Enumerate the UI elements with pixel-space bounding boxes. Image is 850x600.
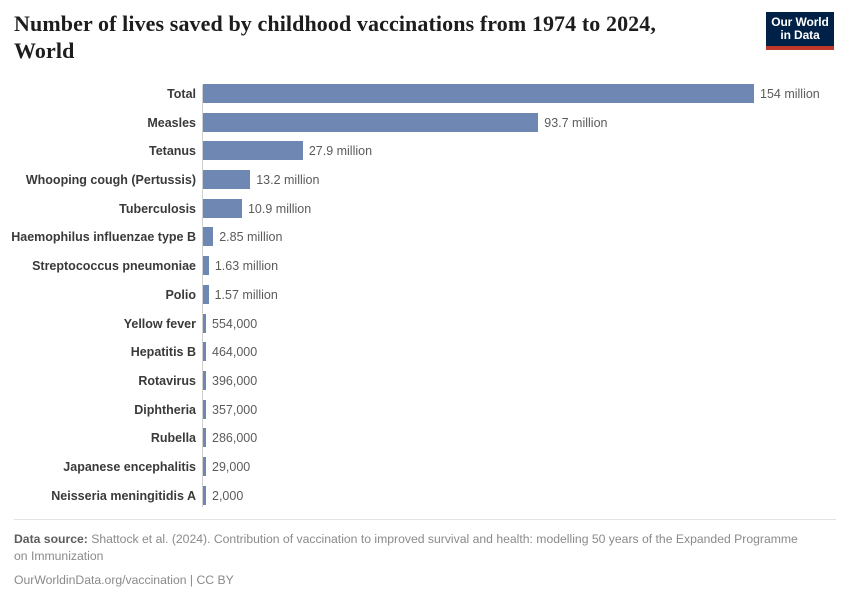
- data-source-label: Data source:: [14, 532, 88, 546]
- data-source-note: Data source: Shattock et al. (2024). Con…: [14, 531, 804, 589]
- bar[interactable]: [203, 227, 213, 246]
- bar-category-label: Diphtheria: [134, 401, 196, 420]
- bar-value-label: 357,000: [212, 401, 257, 420]
- bar-category-label: Neisseria meningitidis A: [51, 487, 196, 506]
- owid-logo-line2: in Data: [766, 29, 834, 42]
- bar-category-label: Measles: [147, 114, 196, 133]
- bar-row[interactable]: Measles93.7 million: [0, 109, 850, 138]
- bar-row[interactable]: Neisseria meningitidis A2,000: [0, 482, 850, 511]
- bar-category-label: Rubella: [151, 429, 196, 448]
- footer-divider: [14, 519, 836, 520]
- bar-value-label: 13.2 million: [256, 171, 319, 190]
- bar[interactable]: [203, 113, 538, 132]
- footer-link[interactable]: OurWorldinData.org/vaccination | CC BY: [14, 572, 804, 589]
- bar-category-label: Yellow fever: [124, 315, 196, 334]
- bar[interactable]: [203, 428, 206, 447]
- bar[interactable]: [203, 400, 206, 419]
- bar-row[interactable]: Streptococcus pneumoniae1.63 million: [0, 252, 850, 281]
- bar-category-label: Hepatitis B: [131, 343, 196, 362]
- bar-row[interactable]: Whooping cough (Pertussis)13.2 million: [0, 166, 850, 195]
- bar-row[interactable]: Rubella286,000: [0, 424, 850, 453]
- owid-logo[interactable]: Our World in Data: [766, 12, 834, 50]
- bar-value-label: 1.57 million: [215, 286, 278, 305]
- bar-value-label: 2,000: [212, 487, 243, 506]
- bar-value-label: 464,000: [212, 343, 257, 362]
- bar-row[interactable]: Hepatitis B464,000: [0, 338, 850, 367]
- bar-row[interactable]: Rotavirus396,000: [0, 367, 850, 396]
- bar-value-label: 1.63 million: [215, 257, 278, 276]
- bar-row[interactable]: Haemophilus influenzae type B2.85 millio…: [0, 223, 850, 252]
- bar-rows: Total154 millionMeasles93.7 millionTetan…: [0, 80, 850, 510]
- bar-row[interactable]: Total154 million: [0, 80, 850, 109]
- bar-row[interactable]: Yellow fever554,000: [0, 310, 850, 339]
- bar-category-label: Rotavirus: [138, 372, 196, 391]
- bar-value-label: 93.7 million: [544, 114, 607, 133]
- bar[interactable]: [203, 199, 242, 218]
- bar-row[interactable]: Japanese encephalitis29,000: [0, 453, 850, 482]
- bar-row[interactable]: Diphtheria357,000: [0, 396, 850, 425]
- bar[interactable]: [203, 342, 206, 361]
- bar[interactable]: [203, 371, 206, 390]
- bar[interactable]: [203, 314, 206, 333]
- bar-value-label: 554,000: [212, 315, 257, 334]
- bar[interactable]: [203, 141, 303, 160]
- bar[interactable]: [203, 486, 206, 505]
- bar-chart: Total154 millionMeasles93.7 millionTetan…: [0, 80, 850, 512]
- bar-value-label: 286,000: [212, 429, 257, 448]
- bar-category-label: Tetanus: [149, 142, 196, 161]
- bar-value-label: 2.85 million: [219, 228, 282, 247]
- bar-row[interactable]: Tuberculosis10.9 million: [0, 195, 850, 224]
- bar-row[interactable]: Polio1.57 million: [0, 281, 850, 310]
- bar-category-label: Haemophilus influenzae type B: [11, 228, 196, 247]
- bar-row[interactable]: Tetanus27.9 million: [0, 137, 850, 166]
- bar-value-label: 29,000: [212, 458, 250, 477]
- bar[interactable]: [203, 170, 250, 189]
- bar-category-label: Polio: [165, 286, 196, 305]
- bar-category-label: Japanese encephalitis: [63, 458, 196, 477]
- bar-category-label: Streptococcus pneumoniae: [32, 257, 196, 276]
- bar[interactable]: [203, 457, 206, 476]
- bar[interactable]: [203, 256, 209, 275]
- bar-value-label: 10.9 million: [248, 200, 311, 219]
- page-title: Number of lives saved by childhood vacci…: [14, 11, 714, 65]
- bar-category-label: Total: [167, 85, 196, 104]
- bar-value-label: 396,000: [212, 372, 257, 391]
- bar[interactable]: [203, 285, 209, 304]
- bar-category-label: Tuberculosis: [119, 200, 196, 219]
- bar-category-label: Whooping cough (Pertussis): [26, 171, 196, 190]
- bar-value-label: 27.9 million: [309, 142, 372, 161]
- chart-header: Number of lives saved by childhood vacci…: [0, 0, 850, 72]
- data-source-text: Shattock et al. (2024). Contribution of …: [14, 532, 798, 563]
- bar-value-label: 154 million: [760, 85, 820, 104]
- bar[interactable]: [203, 84, 754, 103]
